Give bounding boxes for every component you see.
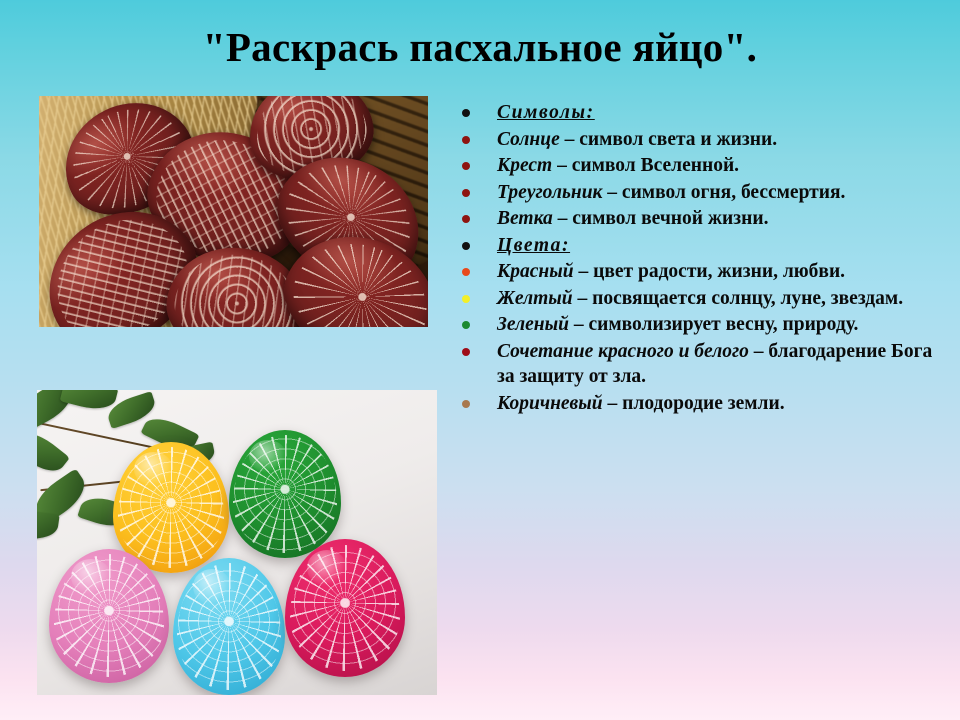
list-item: Ветка – символ вечной жизни. (455, 206, 951, 232)
list-item: Красный – цвет радости, жизни, любви. (455, 259, 951, 285)
list-item-description: – символ вечной жизни. (553, 208, 769, 229)
list-item-term: Сочетание красного и белого (497, 341, 749, 362)
list-item-term: Красный (497, 261, 574, 282)
list-item-term: Желтый (497, 288, 573, 309)
list-item: Желтый – посвящается солнцу, луне, звезд… (455, 286, 951, 312)
list-item-term: Ветка (497, 208, 553, 229)
bullet-dot-icon (462, 162, 470, 170)
crimson-decorated-egg (285, 539, 405, 676)
bullet-dot-icon (462, 268, 470, 276)
list-item-description: – символ Вселенной. (552, 155, 739, 176)
list-item-term: Крест (497, 155, 552, 176)
list-item-term: Коричневый (497, 393, 603, 414)
photo-five-coloured-decorated-eggs (37, 390, 437, 695)
list-item-term: Солнце (497, 129, 560, 150)
list-item: Солнце – символ света и жизни. (455, 127, 951, 153)
list-item-description: – посвящается солнцу, луне, звездам. (573, 288, 903, 309)
list-item: Крест – символ Вселенной. (455, 153, 951, 179)
bullet-dot-icon (462, 189, 470, 197)
slide-canvas: "Раскрась пасхальное яйцо". (0, 0, 960, 720)
list-item-term: Зеленый (497, 314, 569, 335)
bullet-dot-icon (462, 242, 470, 250)
green-decorated-egg (229, 430, 341, 558)
bullet-dot-icon (462, 400, 470, 408)
list-item: Сочетание красного и белого – благодарен… (455, 339, 951, 390)
list-item: Символы: (455, 100, 951, 126)
list-item-description: – символ огня, бессмертия. (602, 182, 845, 203)
list-item: Цвета: (455, 233, 951, 259)
bullet-dot-icon (462, 136, 470, 144)
list-item-description: – символизирует весну, природу. (569, 314, 858, 335)
page-title: "Раскрась пасхальное яйцо". (0, 22, 960, 72)
blue-decorated-egg (173, 558, 285, 695)
bullet-dot-icon (462, 348, 470, 356)
list-item-description: – символ света и жизни. (560, 129, 777, 150)
list-item-term: Треугольник (497, 182, 602, 203)
list-item-term: Символы: (497, 102, 595, 123)
list-item: Коричневый – плодородие земли. (455, 391, 951, 417)
list-item: Треугольник – символ огня, бессмертия. (455, 180, 951, 206)
bullet-dot-icon (462, 295, 470, 303)
list-item-description: – цвет радости, жизни, любви. (574, 261, 845, 282)
symbols-and-colours-list: Символы:Солнце – символ света и жизни.Кр… (455, 100, 951, 417)
list-item: Зеленый – символизирует весну, природу. (455, 312, 951, 338)
list-item-term: Цвета: (497, 235, 570, 256)
bullet-dot-icon (462, 321, 470, 329)
bullet-dot-icon (462, 109, 470, 117)
photo-basket-of-red-pysanky (39, 96, 428, 327)
bullet-dot-icon (462, 215, 470, 223)
list-item-description: – плодородие земли. (603, 393, 785, 414)
